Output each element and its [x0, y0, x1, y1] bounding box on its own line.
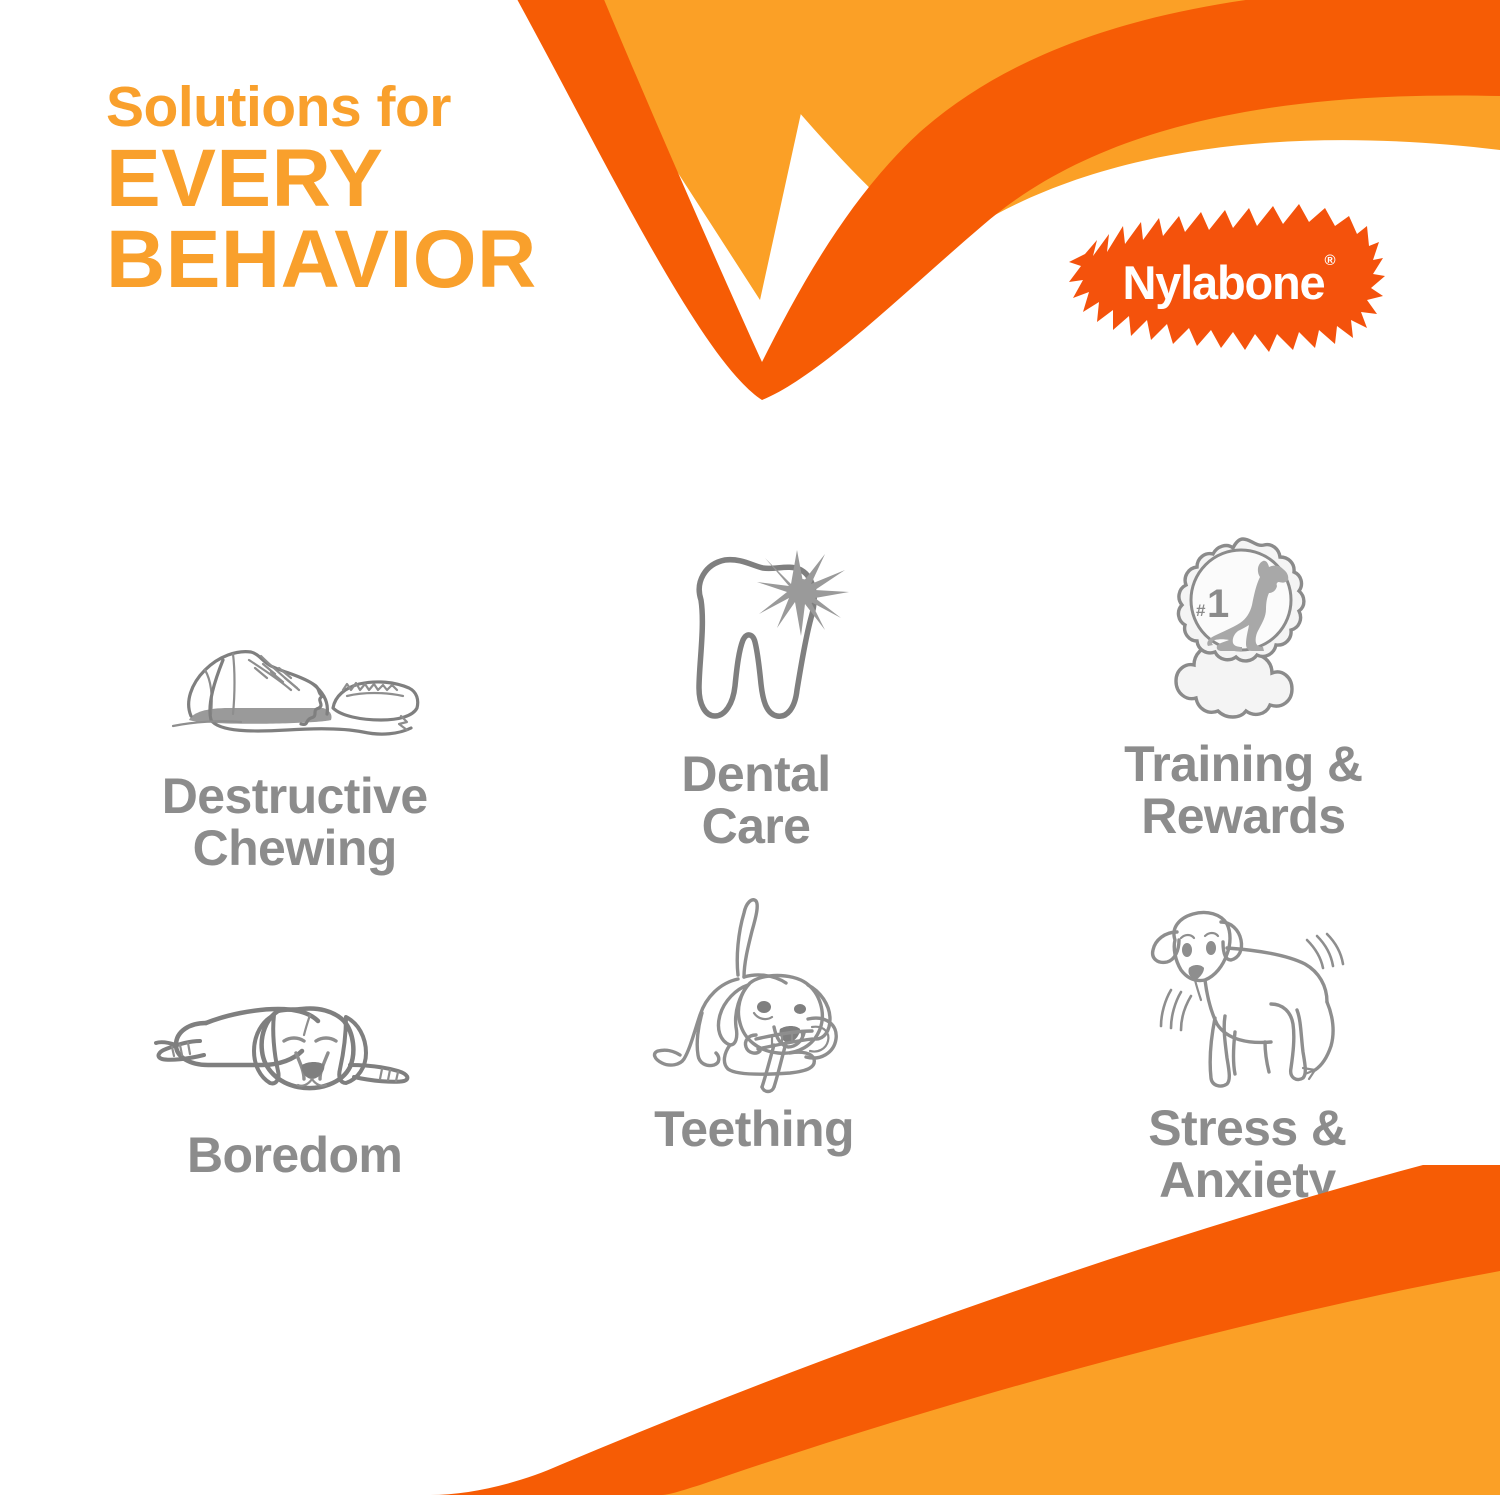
- logo-wordmark-text: Nylabone®: [1122, 252, 1335, 310]
- boredom-dog-brow: [304, 1015, 310, 1035]
- headline-line-3: BEHAVIOR: [106, 217, 746, 302]
- stress-dog-hind-leg-far: [1265, 1042, 1269, 1072]
- stress-dog-brow-right: [1205, 933, 1218, 936]
- rosette-rank-text: #: [1196, 601, 1206, 620]
- bored-lying-dog-icon: [154, 920, 436, 1105]
- headline-block: Solutions for EVERY BEHAVIOR: [106, 78, 746, 303]
- stress-dog-chest-belly: [1205, 980, 1271, 1042]
- behavior-label-dental-care: Dental Care: [681, 748, 830, 852]
- behavior-card-destructive-chewing[interactable]: Destructive Chewing: [63, 562, 526, 934]
- behavior-card-boredom[interactable]: Boredom: [63, 920, 526, 1280]
- teething-puppy-rear-leg: [697, 1013, 719, 1066]
- sparkling-tooth-icon: [661, 532, 851, 732]
- stress-dog-tucked-tail: [1315, 1002, 1333, 1070]
- rosette-rank-number: 1: [1207, 582, 1229, 626]
- award-rosette-dog-icon: # 1: [1156, 528, 1331, 728]
- bottom-band-lower-shape: [660, 1271, 1500, 1495]
- stress-dog-back: [1227, 948, 1327, 1002]
- stress-dog-tremble-lines-front: [1161, 990, 1191, 1030]
- nylabone-logo: Nylabone®: [1067, 196, 1387, 361]
- teething-puppy-eye-left: [757, 1001, 771, 1013]
- teething-toy-stick-end: [762, 1087, 774, 1092]
- teething-puppy-ear-left: [718, 985, 748, 1045]
- teething-puppy-eye-right: [794, 1004, 806, 1014]
- behavior-label-destructive-chewing: Destructive Chewing: [162, 770, 428, 874]
- stress-dog-eye-right: [1206, 941, 1216, 955]
- stress-dog-front-leg-far: [1234, 1032, 1236, 1074]
- rosette-inner-ring: [1191, 550, 1291, 650]
- behavior-grid: Destructive Chewing Dental Care: [55, 520, 1445, 1252]
- behavior-card-training-rewards[interactable]: # 1 Training & Rewards: [1012, 528, 1475, 900]
- stress-dog-eye-left: [1182, 943, 1192, 957]
- logo-wordmark-container: Nylabone®: [1067, 196, 1387, 361]
- behavior-label-boredom: Boredom: [187, 1129, 402, 1181]
- boredom-dog-eye-left: [284, 1038, 304, 1041]
- stress-dog-muzzle-line: [1195, 980, 1201, 1000]
- poster-canvas: Solutions for EVERY BEHAVIOR Nylabone®: [0, 0, 1500, 1495]
- stress-dog-tremble-lines-back: [1307, 934, 1343, 968]
- tooth-sparkle-core: [791, 579, 813, 601]
- behavior-label-stress-anxiety: Stress & Anxiety: [1148, 1102, 1346, 1206]
- logo-trademark-symbol: ®: [1324, 252, 1335, 269]
- boredom-dog-mouth: [298, 1079, 326, 1086]
- teething-puppy-tail: [737, 900, 757, 977]
- shoe-torn-piece-inner: [347, 693, 403, 696]
- behavior-label-training-rewards: Training & Rewards: [1124, 738, 1362, 842]
- behavior-card-stress-anxiety[interactable]: Stress & Anxiety: [1016, 892, 1479, 1252]
- behavior-label-teething: Teething: [654, 1103, 854, 1155]
- teething-puppy-eye-left-crease: [754, 1013, 772, 1019]
- behavior-card-teething[interactable]: Teething: [522, 890, 985, 1250]
- behavior-card-dental-care[interactable]: Dental Care: [524, 532, 987, 904]
- chewed-shoe-icon: [167, 562, 423, 752]
- headline-line-1: Solutions for: [106, 78, 746, 136]
- puppy-chewing-toy-icon: [640, 890, 868, 1095]
- logo-brand-name: Nylabone: [1122, 256, 1324, 309]
- shoe-vamp-seam: [233, 654, 235, 714]
- stress-dog-hind-leg-near: [1271, 1004, 1305, 1080]
- stress-dog-brow-left: [1181, 935, 1194, 938]
- shoe-lace-second: [173, 721, 241, 726]
- headline-line-2: EVERY: [106, 136, 746, 221]
- boredom-dog-tail: [156, 1042, 176, 1045]
- boredom-dog-eye-right: [316, 1038, 336, 1041]
- anxious-trembling-dog-icon: [1131, 892, 1363, 1092]
